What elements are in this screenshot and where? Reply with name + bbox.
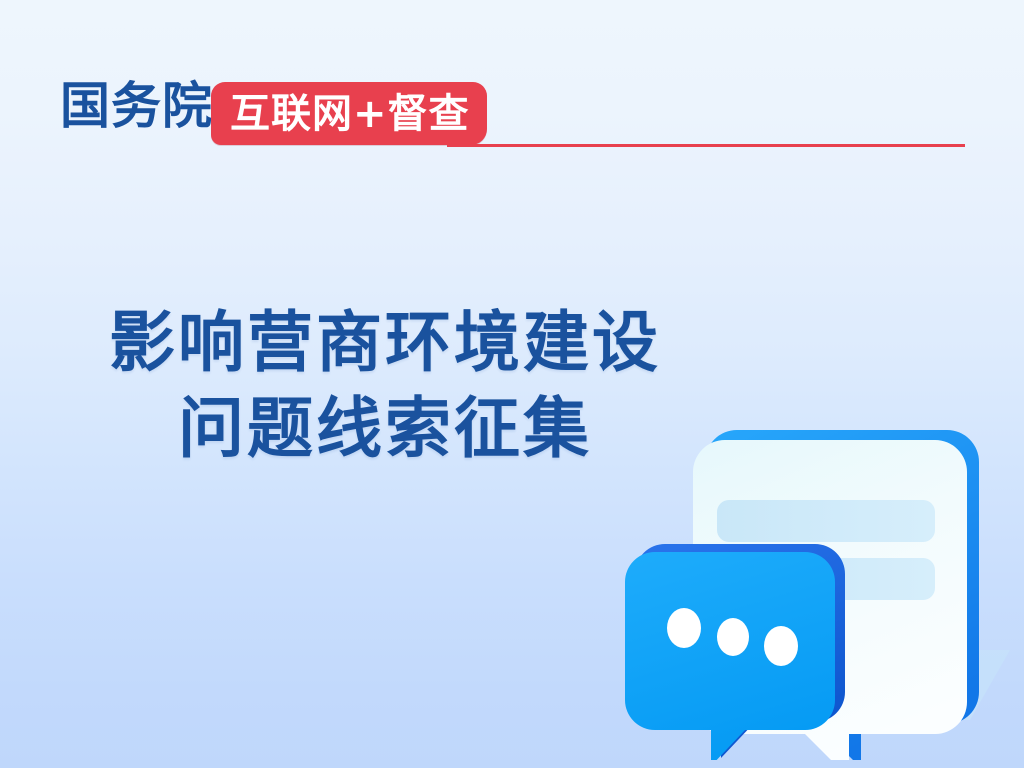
header: 国务院 互联网+督查 <box>0 0 1024 170</box>
typing-dot-2 <box>717 618 749 656</box>
program-badge-label: 互联网+督查 <box>230 92 470 136</box>
poster-page: 国务院 互联网+督查 影响营商环境建设 问题线索征集 <box>0 0 1024 768</box>
front-bubble-body <box>625 552 835 760</box>
typing-dot-3 <box>764 626 798 666</box>
header-divider-rule <box>447 144 965 147</box>
program-badge[interactable]: 互联网+督查 <box>211 82 487 145</box>
page-title-line-1: 影响营商环境建设 <box>60 300 710 386</box>
page-title-line-2: 问题线索征集 <box>60 386 710 472</box>
chat-bubbles-illustration <box>615 390 1015 760</box>
page-title: 影响营商环境建设 问题线索征集 <box>60 300 710 472</box>
typing-dot-1 <box>667 608 701 648</box>
organization-label: 国务院 <box>60 79 213 133</box>
text-bar-long-1 <box>717 500 935 542</box>
